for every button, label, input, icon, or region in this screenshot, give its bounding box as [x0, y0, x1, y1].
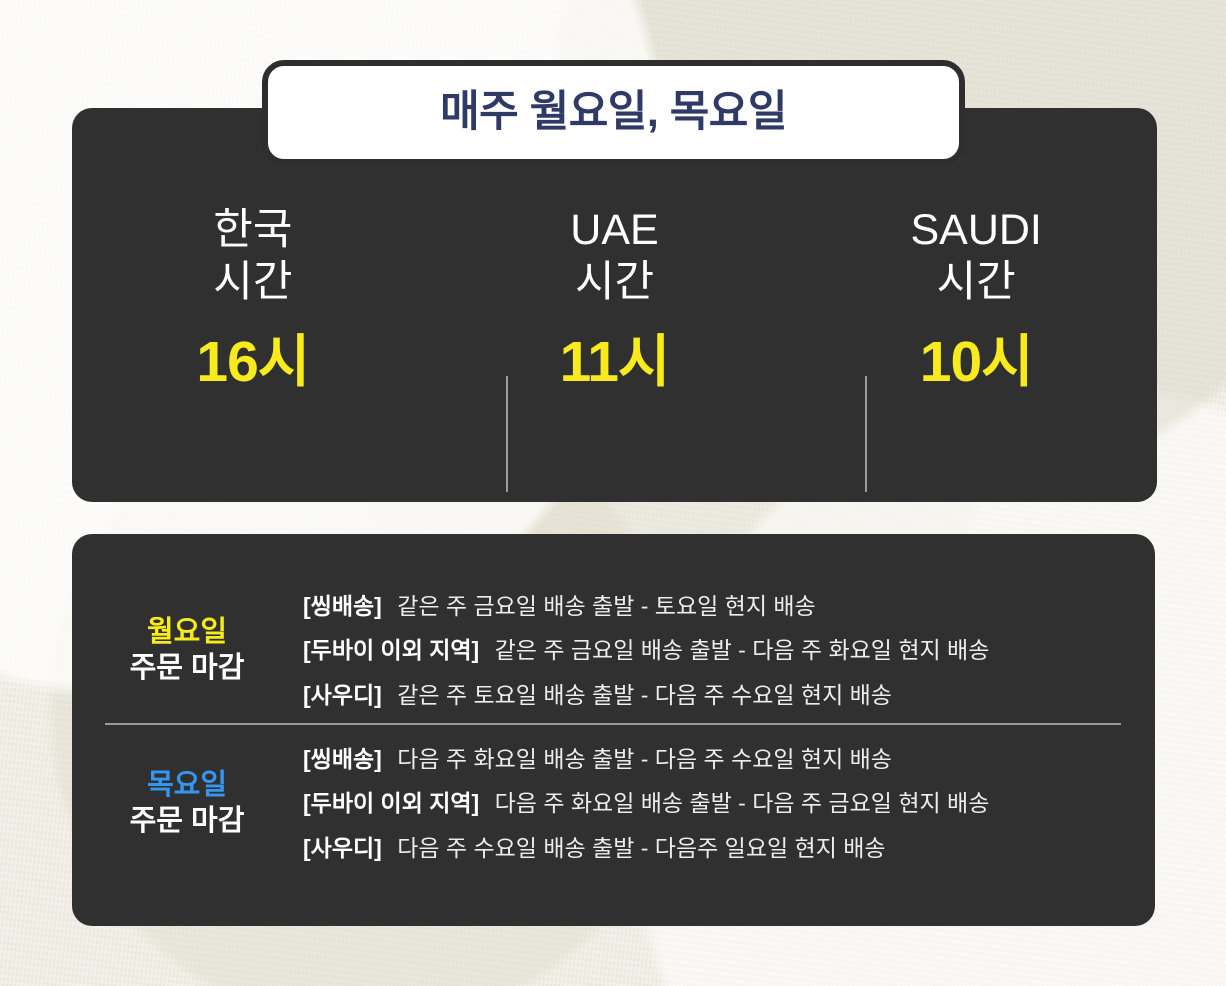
cutoff-day-thursday: 목요일 — [72, 768, 302, 803]
cutoff-text-thursday: 주문 마감 — [72, 804, 302, 839]
region-label-korea: 한국 시간 — [213, 204, 292, 309]
cutoff-line-tag: [두바이 이외 지역] — [303, 790, 479, 816]
cutoff-line-tag: [두바이 이외 지역] — [303, 637, 479, 663]
cutoff-line-desc: 같은 주 토요일 배송 출발 - 다음 주 수요일 현지 배송 — [397, 682, 892, 708]
cutoff-line: [씽배송] 같은 주 금요일 배송 출발 - 토요일 현지 배송 — [303, 584, 1155, 629]
cutoff-line-desc: 같은 주 금요일 배송 출발 - 다음 주 화요일 현지 배송 — [495, 637, 990, 663]
time-column-saudi: SAUDI 시간 10시 — [795, 180, 1157, 391]
page-title: 매주 월요일, 목요일 — [440, 91, 787, 134]
cutoff-line: [사우디] 같은 주 토요일 배송 출발 - 다음 주 수요일 현지 배송 — [303, 673, 1155, 718]
cutoff-line: [두바이 이외 지역] 같은 주 금요일 배송 출발 - 다음 주 화요일 현지… — [303, 628, 1155, 673]
time-column-korea: 한국 시간 16시 — [72, 180, 434, 391]
cutoff-line-desc: 다음 주 화요일 배송 출발 - 다음 주 금요일 현지 배송 — [495, 790, 990, 816]
cutoff-line-tag: [씽배송] — [303, 746, 382, 772]
infographic-stage: 한국 시간 16시 UAE 시간 11시 SAUDI 시간 10시 매주 월요일… — [0, 0, 1226, 986]
cutoff-line-desc: 다음 주 수요일 배송 출발 - 다음주 일요일 현지 배송 — [397, 835, 885, 861]
cutoff-line: [두바이 이외 지역] 다음 주 화요일 배송 출발 - 다음 주 금요일 현지… — [303, 781, 1155, 826]
time-columns: 한국 시간 16시 UAE 시간 11시 SAUDI 시간 10시 — [72, 180, 1157, 450]
cutoff-line: [씽배송] 다음 주 화요일 배송 출발 - 다음 주 수요일 현지 배송 — [303, 737, 1155, 782]
cutoff-line-tag: [사우디] — [303, 835, 382, 861]
cutoff-line-desc: 같은 주 금요일 배송 출발 - 토요일 현지 배송 — [397, 593, 816, 619]
group-divider — [105, 723, 1121, 725]
time-column-uae: UAE 시간 11시 — [434, 180, 796, 391]
region-label-uae: UAE 시간 — [570, 204, 658, 309]
cutoff-lines-thursday: [씽배송] 다음 주 화요일 배송 출발 - 다음 주 수요일 현지 배송 [두… — [302, 737, 1155, 871]
cutoff-group-monday: 월요일 주문 마감 [씽배송] 같은 주 금요일 배송 출발 - 토요일 현지 … — [72, 578, 1155, 723]
cutoff-line-tag: [씽배송] — [303, 593, 382, 619]
cutoff-line-tag: [사우디] — [303, 682, 382, 708]
hour-value-saudi: 10시 — [920, 334, 1033, 391]
hour-value-uae: 11시 — [560, 334, 670, 391]
cutoff-panel: 월요일 주문 마감 [씽배송] 같은 주 금요일 배송 출발 - 토요일 현지 … — [72, 534, 1155, 926]
cutoff-day-monday: 월요일 — [72, 615, 302, 650]
cutoff-line: [사우디] 다음 주 수요일 배송 출발 - 다음주 일요일 현지 배송 — [303, 826, 1155, 871]
cutoff-text-monday: 주문 마감 — [72, 651, 302, 686]
cutoff-line-desc: 다음 주 화요일 배송 출발 - 다음 주 수요일 현지 배송 — [397, 746, 892, 772]
cutoff-label-monday: 월요일 주문 마감 — [72, 615, 302, 686]
region-label-saudi: SAUDI 시간 — [910, 204, 1041, 309]
cutoff-label-thursday: 목요일 주문 마감 — [72, 768, 302, 839]
title-card: 매주 월요일, 목요일 — [262, 60, 965, 165]
cutoff-lines-monday: [씽배송] 같은 주 금요일 배송 출발 - 토요일 현지 배송 [두바이 이외… — [302, 584, 1155, 718]
cutoff-group-thursday: 목요일 주문 마감 [씽배송] 다음 주 화요일 배송 출발 - 다음 주 수요… — [72, 731, 1155, 876]
hour-value-korea: 16시 — [196, 334, 309, 391]
